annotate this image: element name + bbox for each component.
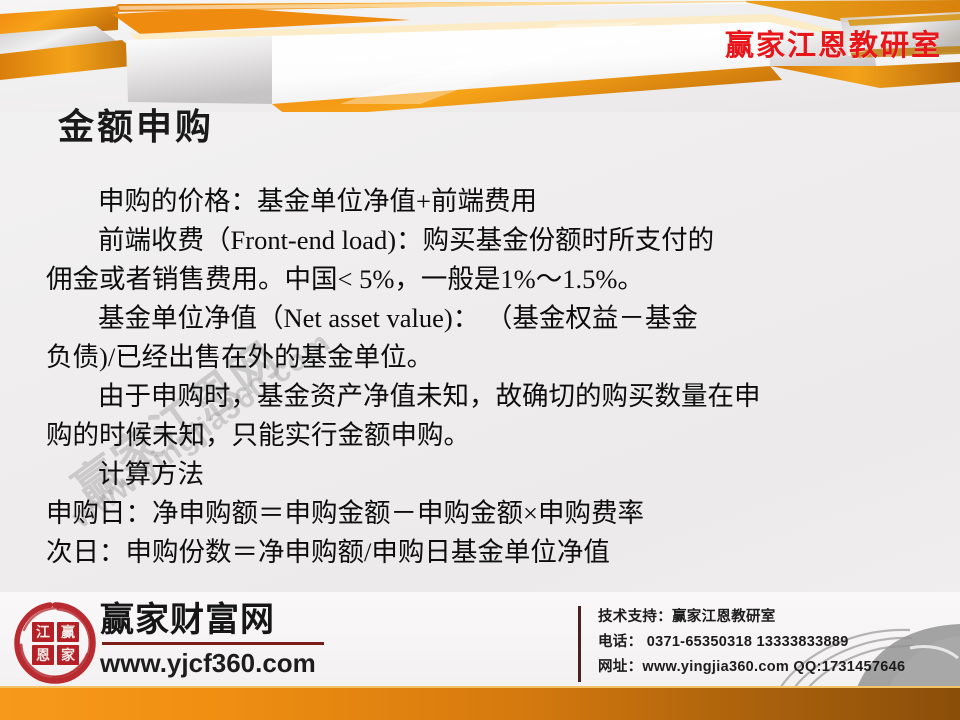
body-line-9: 申购日：净申购额＝申购金额－申购金额×申购费率 (46, 494, 926, 533)
footer-brand: 赢家财富网 www.yjcf360.com (100, 600, 340, 679)
contact-web: 网址：www.yingjia360.com QQ:1731457646 (598, 655, 905, 680)
header-banner: 赢家江恩教研室 (0, 0, 960, 112)
contact-support: 技术支持：赢家江恩教研室 (598, 605, 905, 630)
body-line-8: 计算方法 (46, 455, 926, 494)
slide-body: 申购的价格：基金单位净值+前端费用 前端收费（Front-end load)：购… (46, 182, 926, 572)
header-brand-label: 赢家江恩教研室 (725, 22, 942, 64)
body-line-10: 次日：申购份数＝净申购额/申购日基金单位净值 (46, 533, 926, 572)
seal-char-2: 赢 (61, 624, 75, 641)
body-line-1: 申购的价格：基金单位净值+前端费用 (46, 182, 926, 221)
footer-brand-url: www.yjcf360.com (100, 648, 340, 679)
body-line-7: 购的时候未知，只能实行金额申购。 (46, 416, 926, 455)
body-line-5: 负债)/已经出售在外的基金单位。 (46, 338, 926, 377)
seal-logo-icon: 江 赢 恩 家 (12, 600, 98, 686)
body-line-2: 前端收费（Front-end load)：购买基金份额时所支付的 (46, 221, 926, 260)
contact-phone: 电话： 0371-65350318 13333833889 (598, 630, 905, 655)
footer-contact-block: 技术支持：赢家江恩教研室 电话： 0371-65350318 133338338… (598, 605, 905, 680)
seal-char-3: 恩 (36, 648, 50, 664)
body-line-4: 基金单位净值（Net asset value)： （基金权益－基金 (46, 299, 926, 338)
body-line-6: 由于申购时，基金资产净值未知，故确切的购买数量在申 (46, 377, 926, 416)
footer-brand-name: 赢家财富网 (100, 600, 340, 640)
footer-brand-rule (102, 642, 324, 645)
seal-char-4: 家 (61, 647, 76, 664)
slide-canvas: 赢家江恩教研室 金额申购 赢家江恩网 www.yingjia360.com 申购… (0, 0, 960, 720)
body-line-3: 佣金或者销售费用。中国< 5%，一般是1%～1.5%。 (46, 260, 926, 299)
page-title: 金额申购 (58, 98, 214, 150)
footer-divider (578, 606, 581, 682)
seal-char-1: 江 (36, 624, 50, 641)
footer: 江 赢 恩 家 赢家财富网 www.yjcf360.com 技术支持：赢家江恩教… (0, 592, 960, 720)
footer-accent-bar (0, 686, 960, 720)
